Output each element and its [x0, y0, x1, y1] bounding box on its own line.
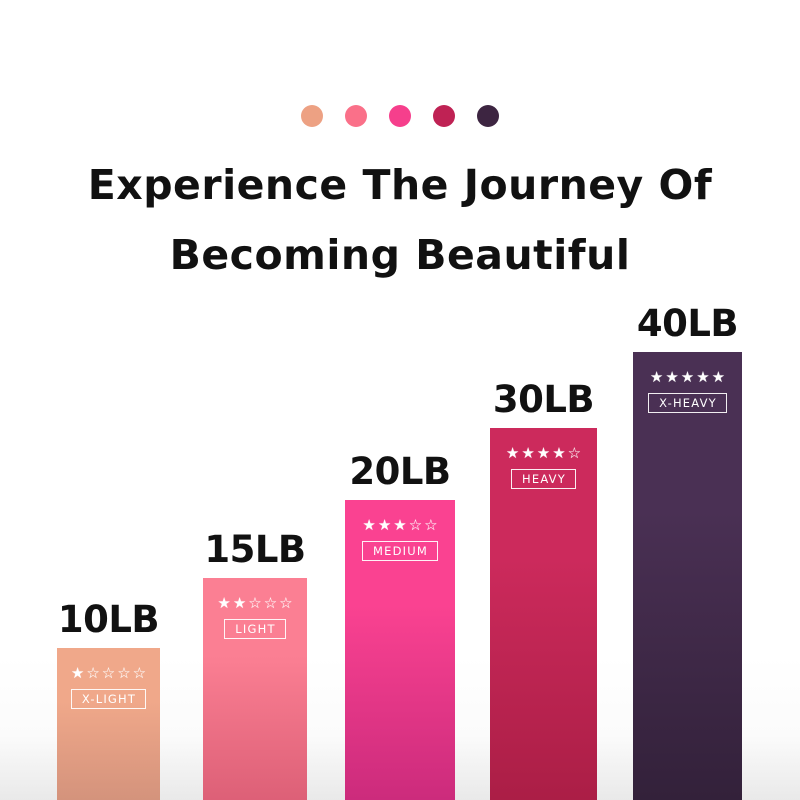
bar-x-heavy[interactable]: ★★★★★X-HEAVY [633, 352, 742, 800]
resistance-badge: MEDIUM [362, 541, 438, 561]
bar-light[interactable]: ★★☆☆☆LIGHT [203, 578, 307, 800]
bar-group-heavy[interactable]: ★★★★☆HEAVY [490, 428, 597, 800]
bar-value-label: 10LB [58, 598, 159, 641]
star-empty-icon: ☆ [248, 596, 261, 611]
star-rating: ★★★☆☆ [362, 518, 437, 533]
resistance-badge: LIGHT [224, 619, 285, 639]
bar-value-label: 30LB [493, 378, 594, 421]
bar-content: ★☆☆☆☆X-LIGHT [57, 648, 160, 709]
star-empty-icon: ☆ [409, 518, 422, 533]
star-empty-icon: ☆ [568, 446, 581, 461]
star-filled-icon: ★ [506, 446, 519, 461]
star-filled-icon: ★ [233, 596, 246, 611]
bar-heavy[interactable]: ★★★★☆HEAVY [490, 428, 597, 800]
star-empty-icon: ☆ [86, 666, 99, 681]
star-empty-icon: ☆ [424, 518, 437, 533]
resistance-badge: X-HEAVY [648, 393, 727, 413]
star-filled-icon: ★ [537, 446, 550, 461]
star-filled-icon: ★ [393, 518, 406, 533]
bar-content: ★★★★☆HEAVY [490, 428, 597, 489]
bar-content: ★★☆☆☆LIGHT [203, 578, 307, 639]
bar-value-label: 20LB [349, 450, 450, 493]
bar-content: ★★★☆☆MEDIUM [345, 500, 455, 561]
star-empty-icon: ☆ [117, 666, 130, 681]
star-rating: ★☆☆☆☆ [71, 666, 146, 681]
bar-group-x-heavy[interactable]: ★★★★★X-HEAVY [633, 352, 742, 800]
star-empty-icon: ☆ [102, 666, 115, 681]
star-filled-icon: ★ [71, 666, 84, 681]
bar-medium[interactable]: ★★★☆☆MEDIUM [345, 500, 455, 800]
star-rating: ★★☆☆☆ [217, 596, 292, 611]
star-filled-icon: ★ [217, 596, 230, 611]
resistance-badge: X-LIGHT [71, 689, 146, 709]
star-rating: ★★★★☆ [506, 446, 581, 461]
star-filled-icon: ★ [665, 370, 678, 385]
star-filled-icon: ★ [521, 446, 534, 461]
star-filled-icon: ★ [696, 370, 709, 385]
star-empty-icon: ☆ [279, 596, 292, 611]
bar-content: ★★★★★X-HEAVY [633, 352, 742, 413]
poster-root: Experience The Journey Of Becoming Beaut… [0, 0, 800, 800]
bar-x-light[interactable]: ★☆☆☆☆X-LIGHT [57, 648, 160, 800]
star-filled-icon: ★ [681, 370, 694, 385]
star-filled-icon: ★ [552, 446, 565, 461]
star-empty-icon: ☆ [133, 666, 146, 681]
star-filled-icon: ★ [712, 370, 725, 385]
star-filled-icon: ★ [378, 518, 391, 533]
star-filled-icon: ★ [362, 518, 375, 533]
bar-group-medium[interactable]: ★★★☆☆MEDIUM [345, 500, 455, 800]
bar-group-light[interactable]: ★★☆☆☆LIGHT [203, 578, 307, 800]
bar-value-label: 15LB [204, 528, 305, 571]
star-rating: ★★★★★ [650, 370, 725, 385]
bar-group-x-light[interactable]: ★☆☆☆☆X-LIGHT [57, 648, 160, 800]
star-empty-icon: ☆ [264, 596, 277, 611]
bar-value-label: 40LB [637, 302, 738, 345]
resistance-badge: HEAVY [511, 469, 576, 489]
star-filled-icon: ★ [650, 370, 663, 385]
resistance-bar-chart: ★☆☆☆☆X-LIGHT10LB★★☆☆☆LIGHT15LB★★★☆☆MEDIU… [0, 0, 800, 800]
